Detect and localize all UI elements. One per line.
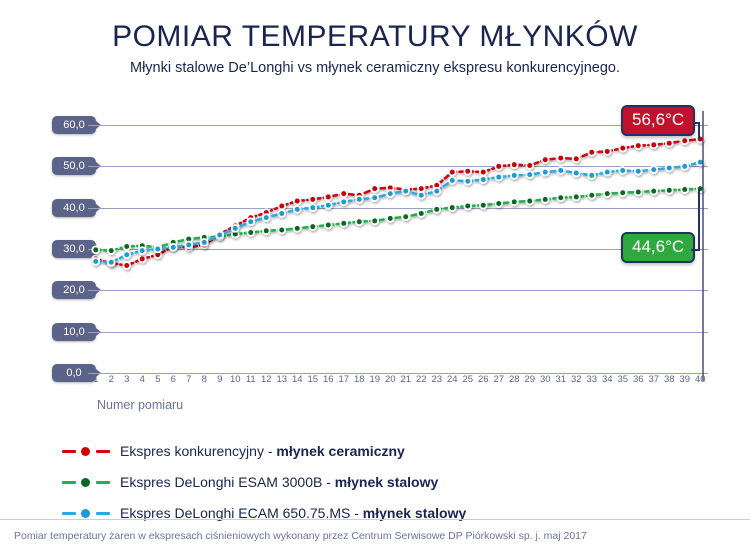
data-point (124, 263, 129, 268)
data-point (496, 201, 501, 206)
callout-red-connector-horizontal (695, 122, 700, 124)
data-point (651, 167, 656, 172)
callout-green-value: 44,6°C (621, 232, 695, 263)
data-point (620, 146, 625, 151)
data-point (543, 170, 548, 175)
data-point (605, 149, 610, 154)
legend-label: Ekspres konkurencyjny - młynek ceramiczn… (120, 443, 405, 459)
data-point (419, 193, 424, 198)
callout-red-value: 56,6°C (621, 105, 695, 136)
data-point (450, 205, 455, 210)
callout-green-connector (698, 189, 700, 249)
data-point (419, 186, 424, 191)
data-point (357, 197, 362, 202)
data-point (574, 170, 579, 175)
legend-swatch-icon (62, 476, 110, 488)
data-point (248, 230, 253, 235)
data-point (682, 164, 687, 169)
page-subtitle: Młynki stalowe De’Longhi vs młynek ceram… (0, 60, 750, 76)
data-point (326, 223, 331, 228)
data-point (279, 227, 284, 232)
legend-label: Ekspres DeLonghi ESAM 3000B - młynek sta… (120, 474, 438, 490)
footer-note: Pomiar temperatury żaren w ekspresach ci… (14, 530, 587, 542)
data-point (295, 226, 300, 231)
data-point (620, 190, 625, 195)
data-point (450, 178, 455, 183)
data-point (605, 170, 610, 175)
data-point (589, 193, 594, 198)
data-point (341, 221, 346, 226)
data-point (589, 173, 594, 178)
data-point (419, 211, 424, 216)
x-tick-label: 40 (691, 374, 709, 385)
data-point (388, 216, 393, 221)
page-title: POMIAR TEMPERATURY MŁYNKÓW (0, 20, 750, 54)
data-point (667, 141, 672, 146)
series-layer (88, 125, 708, 373)
data-point (93, 247, 98, 252)
series-0 (91, 135, 704, 270)
data-point (636, 189, 641, 194)
data-point (558, 168, 563, 173)
data-point (217, 232, 222, 237)
data-point (434, 189, 439, 194)
data-point (651, 189, 656, 194)
data-point (140, 256, 145, 261)
data-point (481, 203, 486, 208)
data-point (124, 252, 129, 257)
data-point (372, 195, 377, 200)
legend-green: Ekspres DeLonghi ESAM 3000B - młynek sta… (62, 466, 702, 497)
callout-red-connector (698, 122, 700, 139)
data-point (295, 207, 300, 212)
data-point (341, 199, 346, 204)
data-point (496, 175, 501, 180)
data-point (310, 197, 315, 202)
data-point (109, 260, 114, 265)
data-point (512, 173, 517, 178)
data-point (589, 150, 594, 155)
data-point (481, 170, 486, 175)
data-point (682, 138, 687, 143)
data-point (341, 191, 346, 196)
chart-page: POMIAR TEMPERATURY MŁYNKÓW Młynki stalow… (0, 0, 750, 556)
data-point (620, 168, 625, 173)
data-point (264, 215, 269, 220)
data-point (636, 169, 641, 174)
x-axis-title: Numer pomiaru (97, 398, 183, 412)
data-point (124, 244, 129, 249)
callout-green-connector-horizontal (691, 249, 700, 251)
data-point (527, 199, 532, 204)
data-point (481, 177, 486, 182)
data-point (698, 160, 703, 165)
x-axis-labels: 1234567891011121314151617181920212223242… (88, 374, 708, 390)
data-point (248, 219, 253, 224)
data-point (326, 194, 331, 199)
data-point (651, 142, 656, 147)
plot-area (88, 125, 708, 373)
data-point (186, 242, 191, 247)
data-point (465, 204, 470, 209)
data-point (682, 187, 687, 192)
series-1 (91, 184, 704, 255)
data-point (667, 165, 672, 170)
footer-divider (0, 519, 750, 520)
data-point (310, 224, 315, 229)
data-point (326, 203, 331, 208)
legend-red: Ekspres konkurencyjny - młynek ceramiczn… (62, 435, 702, 466)
data-point (295, 199, 300, 204)
data-point (233, 226, 238, 231)
legend-blue: Ekspres DeLonghi ECAM 650.75.MS - młynek… (62, 497, 702, 528)
series-2 (91, 158, 704, 267)
data-point (543, 157, 548, 162)
data-point (465, 169, 470, 174)
data-point (372, 218, 377, 223)
data-point (403, 189, 408, 194)
legend-swatch-icon (62, 507, 110, 519)
data-point (171, 245, 176, 250)
data-point (512, 162, 517, 167)
data-point (527, 172, 532, 177)
data-point (372, 186, 377, 191)
data-point (264, 228, 269, 233)
legend-swatch-icon (62, 445, 110, 457)
data-point (140, 248, 145, 253)
legend: Ekspres konkurencyjny - młynek ceramiczn… (62, 435, 702, 528)
data-point (558, 195, 563, 200)
data-point (558, 156, 563, 161)
data-point (465, 179, 470, 184)
data-point (574, 194, 579, 199)
data-point (496, 164, 501, 169)
data-point (388, 191, 393, 196)
data-point (605, 191, 610, 196)
data-point (450, 170, 455, 175)
data-point (667, 188, 672, 193)
data-point (279, 211, 284, 216)
data-point (543, 197, 548, 202)
data-point (527, 163, 532, 168)
data-point (109, 248, 114, 253)
data-point (93, 259, 98, 264)
data-point (574, 156, 579, 161)
data-point (279, 204, 284, 209)
data-point (512, 199, 517, 204)
data-point (636, 143, 641, 148)
data-point (403, 214, 408, 219)
data-point (357, 219, 362, 224)
data-point (202, 240, 207, 245)
data-point (434, 207, 439, 212)
data-point (155, 247, 160, 252)
data-point (310, 205, 315, 210)
